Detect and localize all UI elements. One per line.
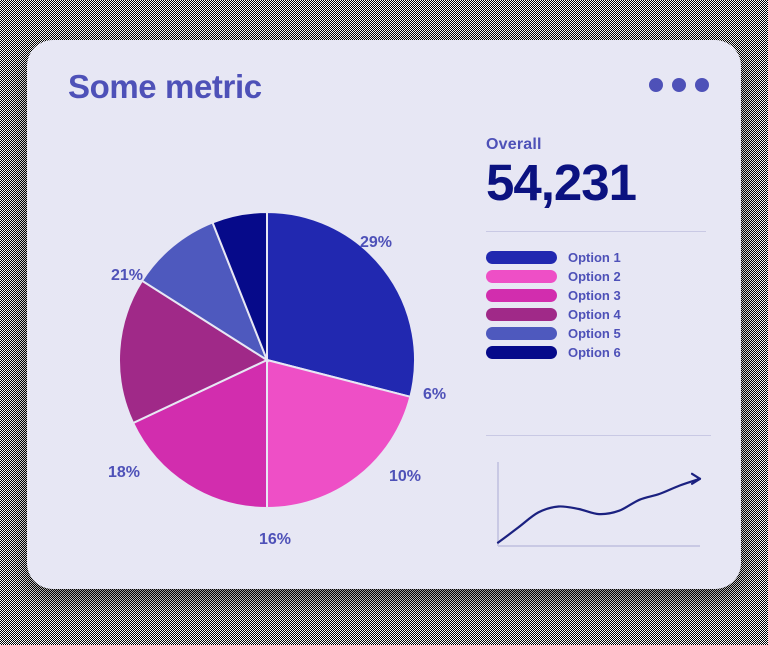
- legend-color-swatch: [486, 251, 557, 264]
- trend-axes: [498, 462, 700, 546]
- menu-dot: [649, 78, 663, 92]
- pie-slice-percent-label: 16%: [259, 531, 291, 549]
- pie-slice-percent-label: 10%: [389, 468, 421, 486]
- pie-chart: 29%21%18%16%10%6%: [67, 160, 467, 560]
- legend-item-2[interactable]: Option 2: [486, 269, 706, 284]
- legend-label: Option 4: [568, 307, 621, 322]
- menu-dot: [672, 78, 686, 92]
- legend-color-swatch: [486, 327, 557, 340]
- legend-item-4[interactable]: Option 4: [486, 307, 706, 322]
- legend-item-5[interactable]: Option 5: [486, 326, 706, 341]
- legend-label: Option 5: [568, 326, 621, 341]
- trend-chart-svg: [486, 452, 708, 557]
- summary-divider: [486, 231, 706, 232]
- more-horizontal-icon[interactable]: [649, 78, 709, 92]
- legend-item-3[interactable]: Option 3: [486, 288, 706, 303]
- overall-label: Overall: [486, 136, 706, 154]
- trend-arrow-icon: [692, 474, 700, 484]
- pie-slice-percent-label: 29%: [360, 234, 392, 252]
- trend-line: [498, 479, 700, 543]
- pie-chart-svg: [67, 160, 467, 560]
- legend-color-swatch: [486, 270, 557, 283]
- overall-value: 54,231: [486, 156, 706, 210]
- trend-divider: [486, 435, 711, 436]
- metric-card: Some metric 29%21%18%16%10%6% Overall 54…: [27, 40, 741, 589]
- pie-slice-percent-label: 18%: [108, 464, 140, 482]
- menu-dot: [695, 78, 709, 92]
- pie-slice-group: [119, 212, 415, 508]
- pie-slice-percent-label: 21%: [111, 267, 143, 285]
- chart-legend: Option 1Option 2Option 3Option 4Option 5…: [486, 250, 706, 360]
- summary-panel: Overall 54,231 Option 1Option 2Option 3O…: [486, 136, 706, 360]
- legend-item-6[interactable]: Option 6: [486, 345, 706, 360]
- legend-label: Option 6: [568, 345, 621, 360]
- legend-label: Option 1: [568, 250, 621, 265]
- legend-label: Option 3: [568, 288, 621, 303]
- legend-color-swatch: [486, 346, 557, 359]
- page-title: Some metric: [68, 68, 262, 106]
- trend-panel: [486, 435, 711, 557]
- legend-color-swatch: [486, 289, 557, 302]
- legend-color-swatch: [486, 308, 557, 321]
- legend-item-1[interactable]: Option 1: [486, 250, 706, 265]
- pie-slice-percent-label: 6%: [423, 386, 446, 404]
- legend-label: Option 2: [568, 269, 621, 284]
